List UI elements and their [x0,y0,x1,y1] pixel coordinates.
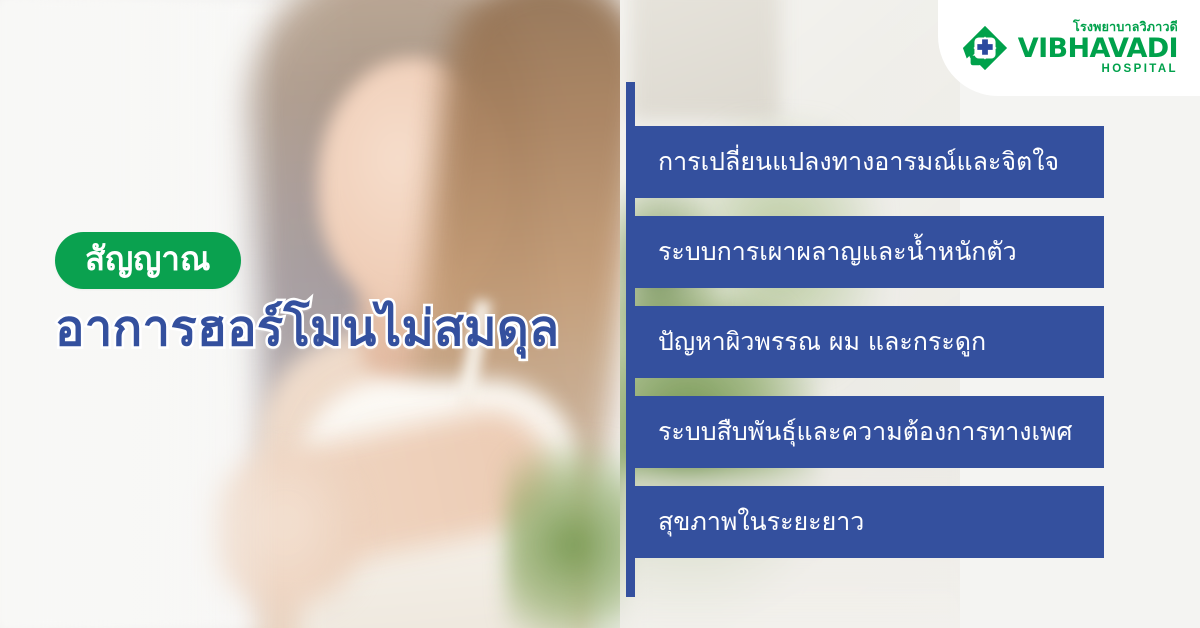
list-item-label: ระบบการเผาผลาญและน้ำหนักตัว [658,237,1017,267]
list-item-label: ระบบสืบพันธุ์และความต้องการทางเพศ [658,417,1072,447]
headline-block: สัญญาณ อาการฮอร์โมนไม่สมดุล [55,232,615,357]
green-diamond-blue-cross-icon [961,24,1009,72]
list-item[interactable]: ระบบสืบพันธุ์และความต้องการทางเพศ [634,396,1104,468]
poster-canvas: โรงพยาบาลวิภาวดี VIBHAVADI HOSPITAL สัญญ… [0,0,1200,628]
page-title: อาการฮอร์โมนไม่สมดุล [55,302,615,357]
brand-lockup-text: โรงพยาบาลวิภาวดี VIBHAVADI HOSPITAL [1018,21,1178,75]
brand-name: VIBHAVADI [1018,35,1178,62]
list-item[interactable]: ปัญหาผิวพรรณ ผม และกระดูก [634,306,1104,378]
symptom-list: การเปลี่ยนแปลงทางอารมณ์และจิตใจ ระบบการเ… [634,126,1104,558]
list-item[interactable]: การเปลี่ยนแปลงทางอารมณ์และจิตใจ [634,126,1104,198]
brand-thai-name: โรงพยาบาลวิภาวดี [1073,21,1178,34]
list-item[interactable]: สุขภาพในระยะยาว [634,486,1104,558]
signal-badge: สัญญาณ [55,232,241,289]
picture-frame-blur [630,0,780,120]
list-item[interactable]: ระบบการเผาผลาญและน้ำหนักตัว [634,216,1104,288]
list-item-label: การเปลี่ยนแปลงทางอารมณ์และจิตใจ [658,147,1059,177]
brand-logo[interactable]: โรงพยาบาลวิภาวดี VIBHAVADI HOSPITAL [961,21,1178,75]
list-item-label: ปัญหาผิวพรรณ ผม และกระดูก [658,327,986,357]
logo-plate: โรงพยาบาลวิภาวดี VIBHAVADI HOSPITAL [938,0,1200,96]
brand-subtitle: HOSPITAL [1102,64,1179,76]
list-item-label: สุขภาพในระยะยาว [658,507,864,537]
